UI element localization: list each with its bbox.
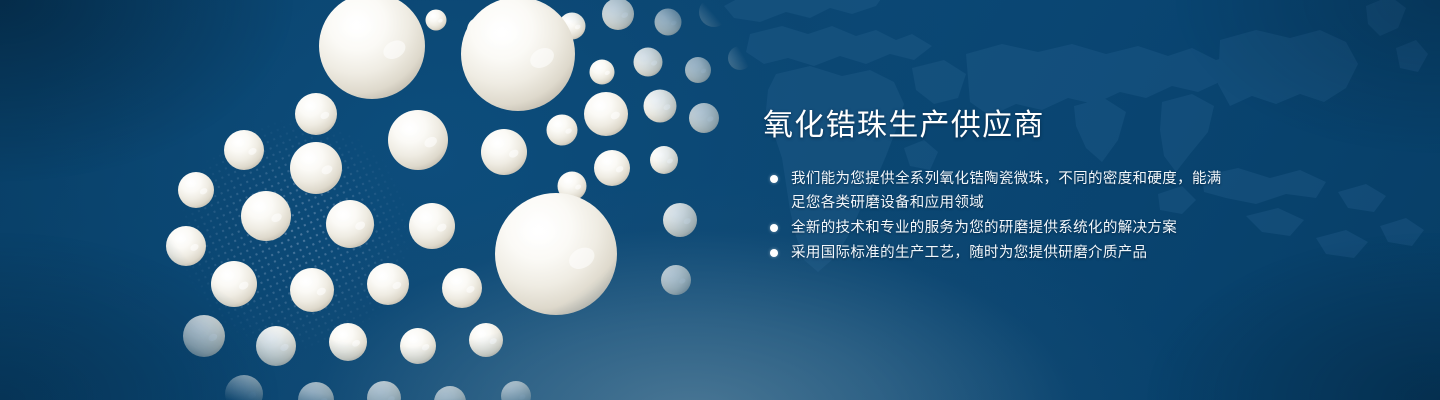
banner-bullet-text: 采用国际标准的生产工艺，随时为您提供研磨介质产品	[791, 245, 1147, 261]
banner-bullet-list: 我们能为您提供全系列氧化锆陶瓷微珠，不同的密度和硬度，能满足您各类研磨设备和应用…	[763, 167, 1223, 265]
bullet-dot-icon	[770, 175, 778, 183]
banner-bullet-item: 采用国际标准的生产工艺，随时为您提供研磨介质产品	[763, 241, 1223, 265]
banner-copy: 氧化锆珠生产供应商 我们能为您提供全系列氧化锆陶瓷微珠，不同的密度和硬度，能满足…	[763, 108, 1223, 266]
banner-bullet-text: 全新的技术和专业的服务为您的研磨提供系统化的解决方案	[791, 220, 1177, 236]
banner-bullet-text: 我们能为您提供全系列氧化锆陶瓷微珠，不同的密度和硬度，能满足您各类研磨设备和应用…	[791, 171, 1222, 211]
banner-bullet-item: 我们能为您提供全系列氧化锆陶瓷微珠，不同的密度和硬度，能满足您各类研磨设备和应用…	[763, 167, 1223, 215]
hero-banner: 氧化锆珠生产供应商 我们能为您提供全系列氧化锆陶瓷微珠，不同的密度和硬度，能满足…	[0, 0, 1440, 400]
banner-bullet-item: 全新的技术和专业的服务为您的研磨提供系统化的解决方案	[763, 216, 1223, 240]
banner-background-gradient	[0, 0, 1440, 400]
banner-headline: 氧化锆珠生产供应商	[763, 108, 1223, 143]
bullet-dot-icon	[770, 249, 778, 257]
bullet-dot-icon	[770, 224, 778, 232]
